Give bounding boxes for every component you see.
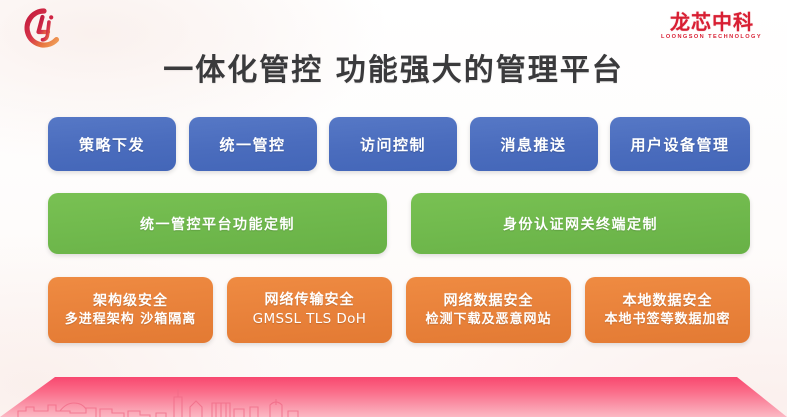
feature-card-subtitle: 本地书签等数据加密 (604, 311, 730, 329)
feature-card-access-control[interactable]: 访问控制 (329, 117, 457, 171)
feature-card-message-push[interactable]: 消息推送 (470, 117, 598, 171)
feature-card-user-device-management[interactable]: 用户设备管理 (610, 117, 750, 171)
feature-row-orange: 架构级安全 多进程架构 沙箱隔离 网络传输安全 GMSSL TLS DoH 网络… (48, 277, 750, 343)
feature-card-platform-customization[interactable]: 统一管控平台功能定制 (48, 193, 387, 254)
feature-card-local-data-security[interactable]: 本地数据安全 本地书签等数据加密 (585, 277, 750, 343)
feature-card-title: 网络传输安全 (265, 291, 355, 310)
feature-card-network-transport-security[interactable]: 网络传输安全 GMSSL TLS DoH (227, 277, 392, 343)
feature-card-label: 访问控制 (360, 134, 426, 155)
feature-row-blue: 策略下发 统一管控 访问控制 消息推送 用户设备管理 (48, 117, 750, 171)
feature-card-subtitle: GMSSL TLS DoH (253, 310, 367, 328)
feature-card-auth-gateway-customization[interactable]: 身份认证网关终端定制 (411, 193, 750, 254)
feature-card-label: 消息推送 (500, 134, 566, 155)
feature-card-subtitle: 多进程架构 沙箱隔离 (65, 311, 197, 329)
feature-card-label: 用户设备管理 (630, 134, 729, 155)
feature-card-title: 网络数据安全 (444, 292, 534, 311)
feature-card-architecture-security[interactable]: 架构级安全 多进程架构 沙箱隔离 (48, 277, 213, 343)
feature-card-network-data-security[interactable]: 网络数据安全 检测下载及恶意网站 (406, 277, 571, 343)
feature-card-label: 策略下发 (79, 134, 145, 155)
brand-name-en: LOONGSON TECHNOLOGY (661, 35, 762, 41)
feature-card-label: 统一管控 (219, 134, 285, 155)
page-title: 一体化管控 功能强大的管理平台 (0, 45, 787, 89)
pink-skyline-banner (0, 367, 787, 417)
feature-card-label: 统一管控平台功能定制 (140, 214, 295, 234)
brand-name-cn: 龙芯中科 (670, 12, 754, 32)
feature-card-title: 架构级安全 (93, 292, 168, 311)
feature-card-policy-dispatch[interactable]: 策略下发 (48, 117, 176, 171)
feature-card-label: 身份认证网关终端定制 (503, 214, 658, 234)
loongson-wordmark-logo: 龙芯中科 LOONGSON TECHNOLOGY (651, 8, 773, 44)
feature-row-green: 统一管控平台功能定制 身份认证网关终端定制 (48, 193, 750, 254)
feature-card-subtitle: 检测下载及恶意网站 (425, 311, 551, 329)
feature-card-title: 本地数据安全 (623, 292, 713, 311)
feature-card-unified-control[interactable]: 统一管控 (189, 117, 317, 171)
